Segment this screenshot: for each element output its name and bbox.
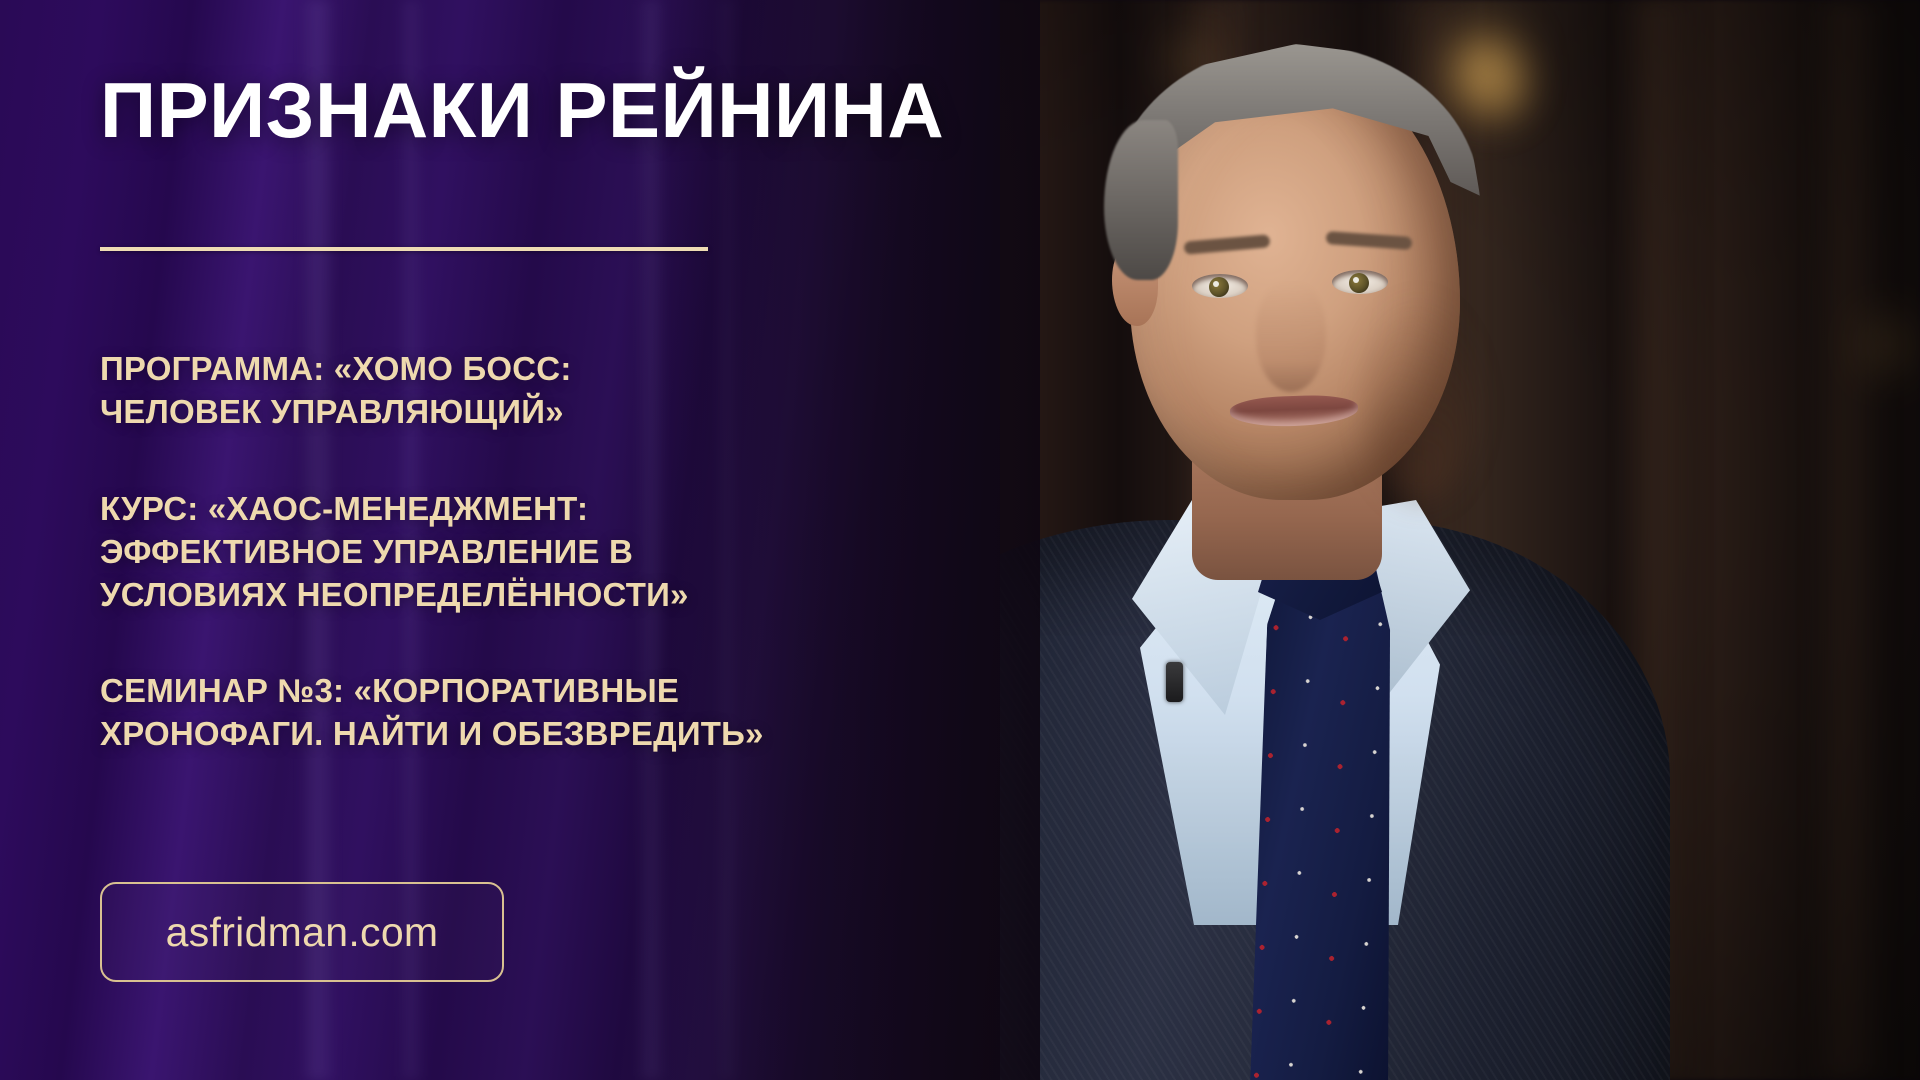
- seminar-block: СЕМИНАР №3: «КОРПОРАТИВНЫЕ ХРОНОФАГИ. НА…: [100, 670, 920, 756]
- slide-content: ПРИЗНАКИ РЕЙНИНА ПРОГРАММА: «ХОМО БОСС: …: [0, 0, 1000, 1080]
- program-block: ПРОГРАММА: «ХОМО БОСС: ЧЕЛОВЕК УПРАВЛЯЮЩ…: [100, 348, 920, 434]
- website-url-button[interactable]: asfridman.com: [100, 882, 504, 982]
- title-divider: [100, 247, 708, 251]
- slide-canvas: ПРИЗНАКИ РЕЙНИНА ПРОГРАММА: «ХОМО БОСС: …: [0, 0, 1920, 1080]
- course-line-1: КУРС: «ХАОС-МЕНЕДЖМЕНТ:: [100, 488, 920, 531]
- page-title: ПРИЗНАКИ РЕЙНИНА: [100, 65, 944, 156]
- course-line-3: УСЛОВИЯХ НЕОПРЕДЕЛЁННОСТИ»: [100, 574, 920, 617]
- detail-blocks: ПРОГРАММА: «ХОМО БОСС: ЧЕЛОВЕК УПРАВЛЯЮЩ…: [100, 348, 920, 756]
- lapel-microphone: [1166, 662, 1183, 702]
- eye-right: [1332, 270, 1388, 294]
- course-line-2: ЭФФЕКТИВНОЕ УПРАВЛЕНИЕ В: [100, 531, 920, 574]
- face-shadow: [1366, 300, 1476, 500]
- iris-left: [1209, 277, 1229, 297]
- program-line-1: ПРОГРАММА: «ХОМО БОСС:: [100, 348, 920, 391]
- eye-left: [1192, 274, 1248, 298]
- program-line-2: ЧЕЛОВЕК УПРАВЛЯЮЩИЙ»: [100, 391, 920, 434]
- course-block: КУРС: «ХАОС-МЕНЕДЖМЕНТ: ЭФФЕКТИВНОЕ УПРА…: [100, 488, 920, 617]
- iris-right: [1349, 273, 1369, 293]
- seminar-line-1: СЕМИНАР №3: «КОРПОРАТИВНЫЕ: [100, 670, 920, 713]
- nose: [1256, 282, 1326, 392]
- website-url-label: asfridman.com: [166, 909, 439, 956]
- hair-side: [1104, 120, 1178, 280]
- seminar-line-2: ХРОНОФАГИ. НАЙТИ И ОБЕЗВРЕДИТЬ»: [100, 713, 920, 756]
